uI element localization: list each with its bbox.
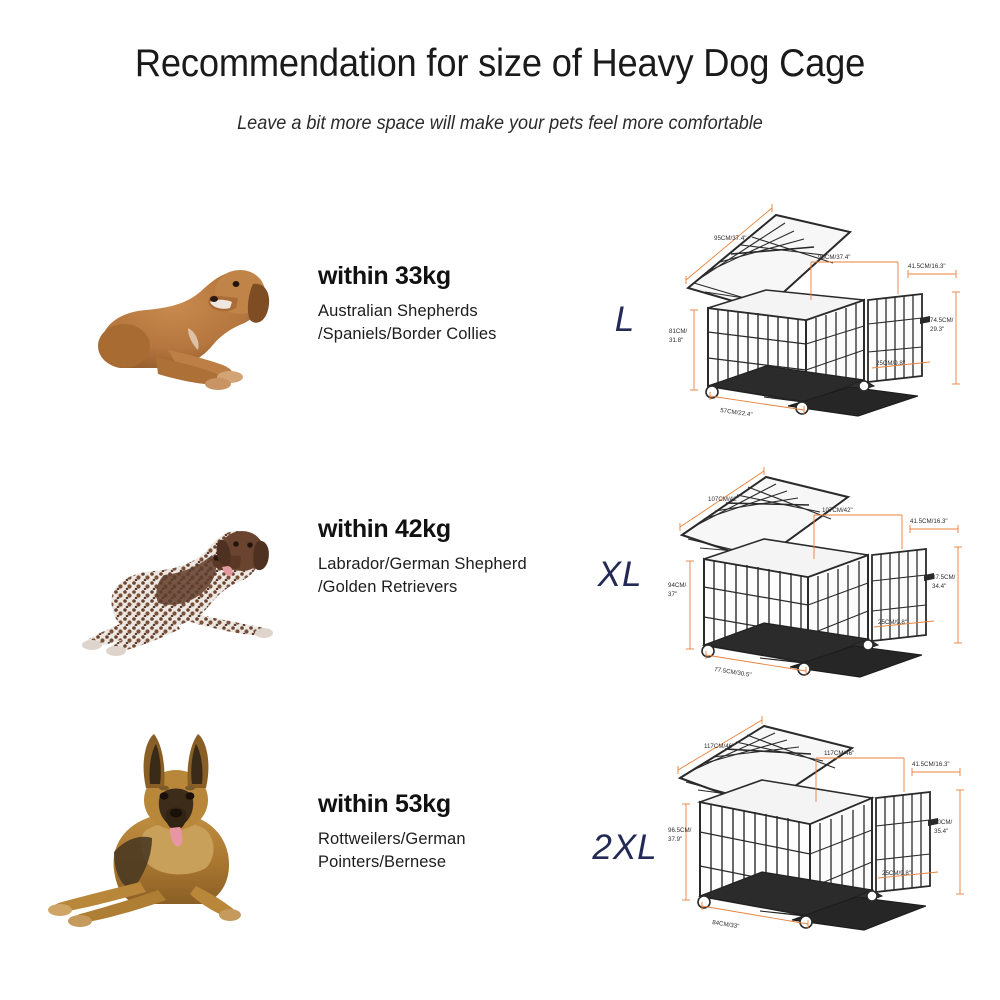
size-row-l: within 33kg Australian Shepherds /Spanie…	[0, 200, 1000, 450]
dim-lid-width: 95CM/37.4"	[714, 235, 746, 242]
dim-right-height-1: 74.5CM/	[930, 317, 954, 324]
dim-right-height-2: 34.4"	[932, 583, 946, 590]
dim-right-height-2: 29.3"	[930, 326, 944, 333]
breed-line: /Spaniels/Border Collies	[318, 323, 588, 346]
dim-top-depth: 95CM/37.4"	[818, 254, 850, 261]
page-subtitle: Leave a bit more space will make your pe…	[25, 113, 975, 135]
german-shepherd-icon	[40, 700, 310, 950]
dim-left-height-2: 31.8"	[669, 337, 683, 344]
dim-right-height-2: 35.4"	[934, 828, 948, 835]
page-title: Recommendation for size of Heavy Dog Cag…	[35, 42, 965, 86]
size-row-2xl: within 53kg Rottweilers/German Pointers/…	[0, 700, 1000, 950]
dim-tray-height: 25CM/9.8"	[882, 870, 911, 877]
dim-left-height-1: 96.5CM/	[668, 827, 692, 834]
weight-label: within 53kg	[318, 790, 588, 819]
dim-base-width: 84CM/33"	[712, 919, 740, 930]
cage-drawing: 95CM/37.4" 95CM/37.4" 41.5CM/16.3" 81CM/…	[668, 200, 968, 450]
infographic-page: Recommendation for size of Heavy Dog Cag…	[0, 0, 1000, 1000]
cage-diagram-2xl: 117CM/46" 117CM/46" 41.5CM/16.3" 96.5CM/…	[668, 700, 968, 950]
weight-label: within 42kg	[318, 515, 608, 544]
dog-photo-cell	[60, 200, 310, 450]
dim-top-depth: 107CM/42"	[822, 507, 853, 514]
dim-left-height-1: 81CM/	[669, 328, 688, 335]
dim-tray-height: 25CM/9.8"	[876, 360, 905, 367]
size-badge-cell: XL	[560, 555, 680, 595]
dim-door-width: 41.5CM/16.3"	[910, 518, 948, 525]
dim-left-height-2: 37.9"	[668, 836, 682, 843]
cage-drawing: 117CM/46" 117CM/46" 41.5CM/16.3" 96.5CM/…	[668, 700, 968, 950]
cage-diagram-xl: 107CM/42" 107CM/42" 41.5CM/16.3" 94CM/ 3…	[668, 455, 968, 705]
size-row-xl: within 42kg Labrador/German Shepherd /Go…	[0, 455, 1000, 705]
breed-list: Australian Shepherds /Spaniels/Border Co…	[318, 300, 588, 346]
dim-lid-width: 117CM/46"	[704, 743, 734, 750]
pointer-dog-icon	[60, 455, 310, 705]
dim-right-height-1: 90CM/	[934, 819, 953, 826]
dog-photo-cell	[40, 700, 310, 950]
dim-base-width: 77.5CM/30.5"	[714, 666, 752, 679]
dog-photo-cell	[60, 455, 310, 705]
dim-left-height-1: 94CM/	[668, 582, 687, 589]
size-text-block: within 53kg Rottweilers/German Pointers/…	[318, 790, 588, 874]
breed-line: Australian Shepherds	[318, 300, 588, 323]
size-label: 2XL	[592, 828, 657, 867]
dim-left-height-2: 37"	[668, 591, 677, 598]
breed-line: Rottweilers/German	[318, 828, 588, 851]
size-badge-cell: 2XL	[565, 828, 685, 868]
size-label: XL	[598, 555, 643, 594]
dim-door-width: 41.5CM/16.3"	[908, 263, 946, 270]
breed-line: Pointers/Bernese	[318, 851, 588, 874]
dim-right-height-1: 87.5CM/	[932, 574, 956, 581]
breed-list: Rottweilers/German Pointers/Bernese	[318, 828, 588, 874]
size-label: L	[615, 300, 635, 339]
dim-tray-height: 25CM/9.8"	[878, 619, 907, 626]
size-badge-cell: L	[565, 300, 685, 340]
tan-dog-icon	[60, 200, 310, 450]
cage-drawing: 107CM/42" 107CM/42" 41.5CM/16.3" 94CM/ 3…	[668, 455, 968, 705]
dim-base-width: 57CM/22.4"	[720, 407, 753, 418]
dim-top-depth: 117CM/46"	[824, 750, 854, 757]
size-text-block: within 33kg Australian Shepherds /Spanie…	[318, 262, 588, 346]
weight-label: within 33kg	[318, 262, 588, 291]
dim-lid-width: 107CM/42"	[708, 496, 739, 503]
cage-diagram-l: 95CM/37.4" 95CM/37.4" 41.5CM/16.3" 81CM/…	[668, 200, 968, 450]
dim-door-width: 41.5CM/16.3"	[912, 761, 950, 768]
